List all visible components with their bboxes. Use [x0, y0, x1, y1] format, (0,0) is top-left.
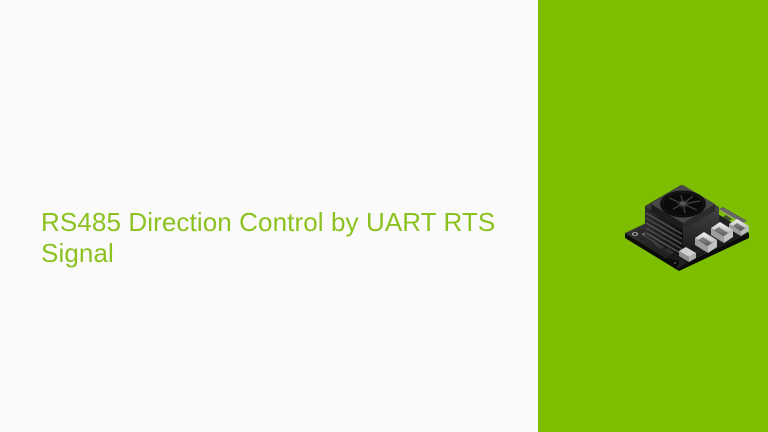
- screenshot-canvas: RS485 Direction Control by UART RTS Sign…: [0, 0, 768, 432]
- page-title: RS485 Direction Control by UART RTS Sign…: [41, 207, 511, 269]
- product-board-image: [623, 176, 763, 288]
- left-content-panel: RS485 Direction Control by UART RTS Sign…: [0, 0, 538, 432]
- mounting-hole: [632, 232, 638, 236]
